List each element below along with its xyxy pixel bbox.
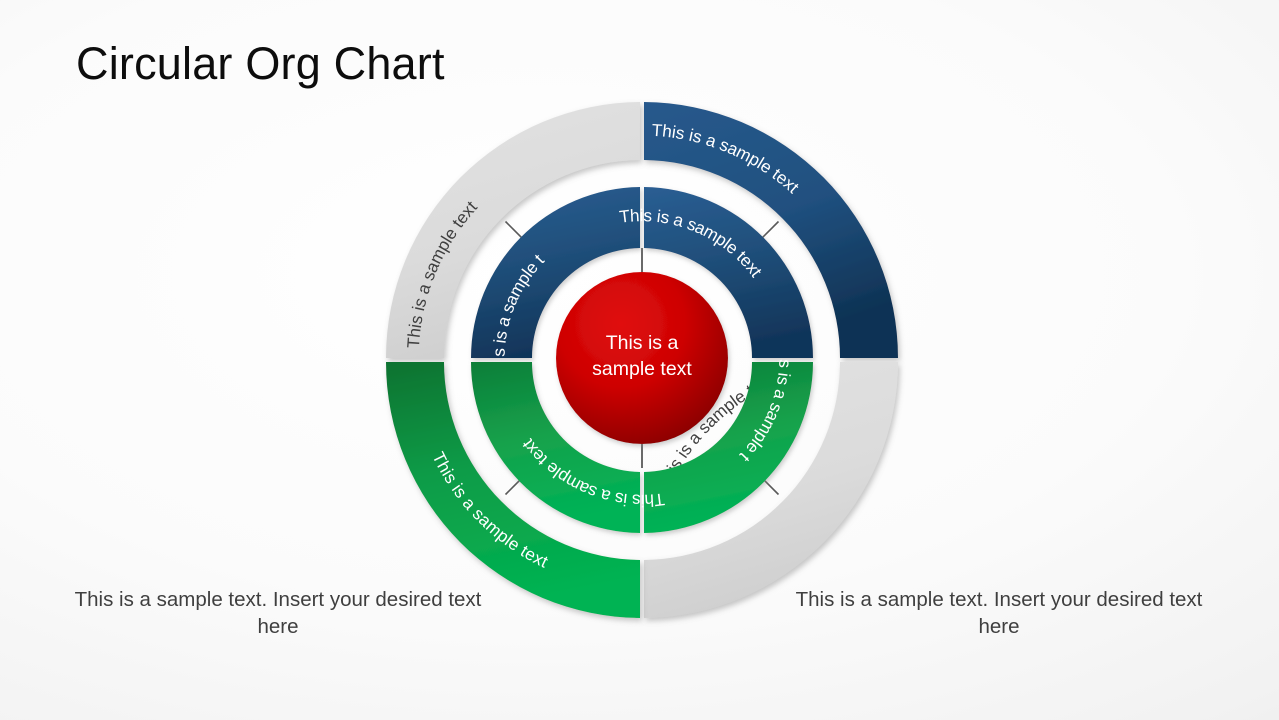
slide-canvas: Circular Org Chart xyxy=(0,0,1279,720)
caption-right: This is a sample text. Insert your desir… xyxy=(784,586,1214,640)
center-hub-circle[interactable] xyxy=(556,272,728,444)
center-hub[interactable] xyxy=(556,272,728,444)
caption-left: This is a sample text. Insert your desir… xyxy=(63,586,493,640)
